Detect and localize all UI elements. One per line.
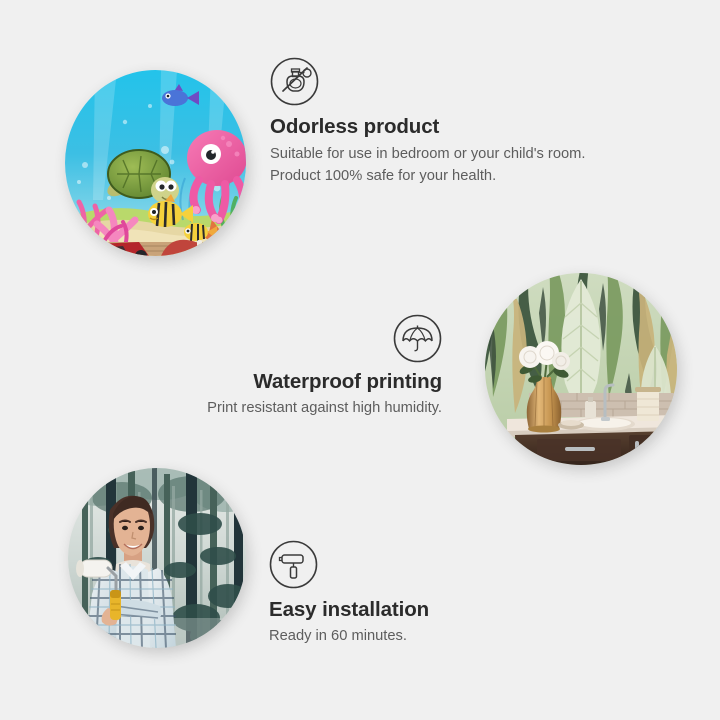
feature-description: Suitable for use in bedroom or your chil… <box>270 144 600 187</box>
feature-easy-installation: Easy installation Ready in 60 minutes. <box>269 540 599 648</box>
umbrella-icon <box>393 314 442 363</box>
tropical-leaf-bathroom-photo <box>485 273 677 465</box>
feature-description: Print resistant against high humidity. <box>100 398 442 420</box>
feature-odorless-product: Odorless product Suitable for use in bed… <box>270 57 610 187</box>
feature-title: Odorless product <box>270 115 610 139</box>
feature-description: Ready in 60 minutes. <box>269 626 599 648</box>
feature-title: Easy installation <box>269 598 599 622</box>
feature-title: Waterproof printing <box>100 370 442 394</box>
feature-waterproof-printing: Waterproof printing Print resistant agai… <box>100 314 442 420</box>
woman-with-paint-roller-forest-photo <box>68 468 246 648</box>
no-fragrance-icon <box>270 57 319 106</box>
feature-panel: Odorless product Suitable for use in bed… <box>0 0 720 720</box>
paint-roller-icon <box>269 540 318 589</box>
underwater-cartoon-mural-photo <box>65 70 246 256</box>
